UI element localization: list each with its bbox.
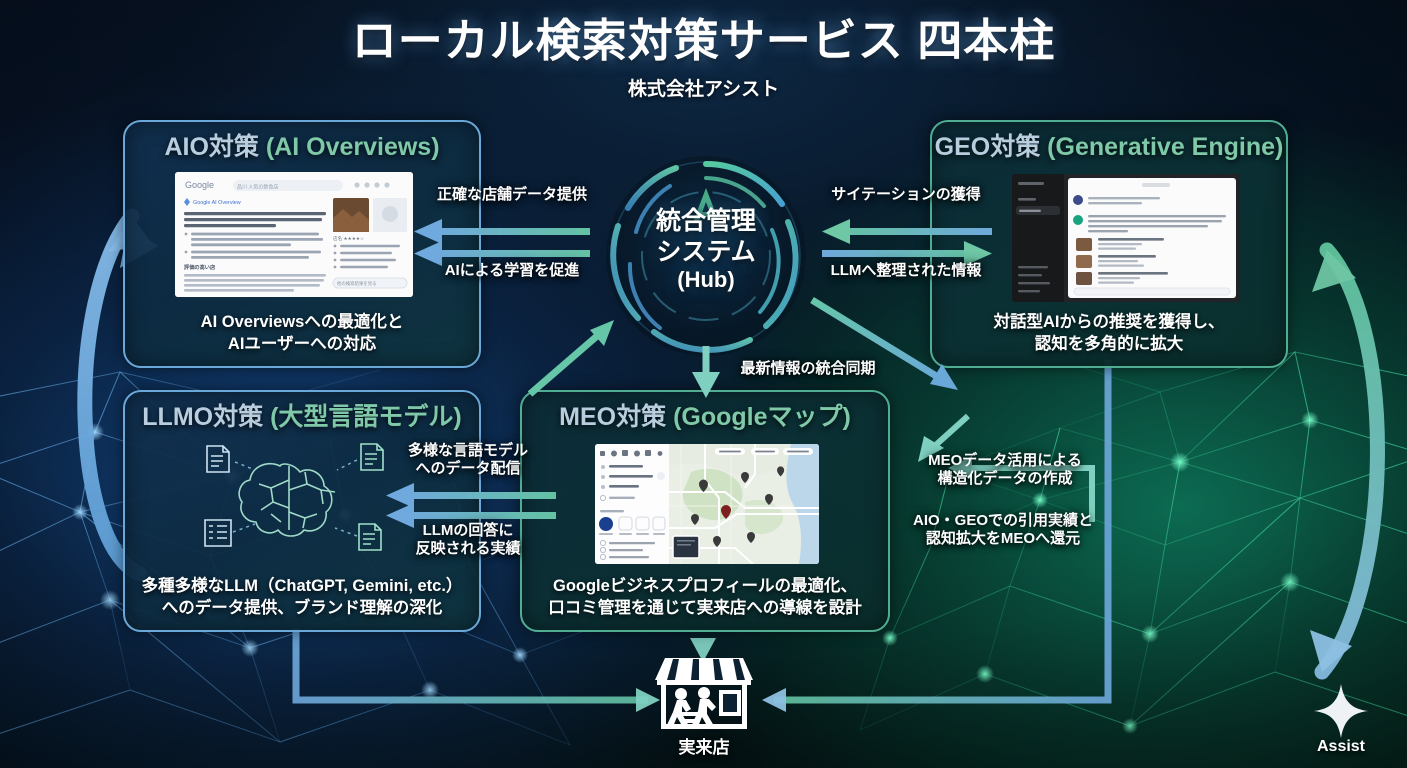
flow-label-right-bottom: AIO・GEOでの引用実績と 認知拡大をMEOへ還元 [898, 512, 1108, 549]
flow-label-right-top: MEOデータ活用による 構造化データの作成 [910, 452, 1100, 489]
brand-logo: Assist [1297, 682, 1385, 756]
store-node: 実来店 [645, 650, 763, 758]
arrow-meo-sync [692, 346, 720, 398]
brand-name: Assist [1297, 738, 1385, 756]
company-name: 株式会社アシスト [0, 74, 1407, 101]
arrow-aio-top [414, 219, 590, 244]
flow-label-geo-top: サイテーションの獲得 [816, 186, 996, 204]
store-label: 実来店 [645, 733, 763, 758]
flow-label-meo-sync: 最新情報の統合同期 [718, 360, 898, 378]
storefront-with-customers-icon [645, 650, 763, 732]
page-title: ローカル検索対策サービス 四本柱 [0, 14, 1407, 67]
header: ローカル検索対策サービス 四本柱 株式会社アシスト [0, 14, 1407, 101]
infographic-canvas: ローカル検索対策サービス 四本柱 株式会社アシスト [0, 0, 1407, 768]
flow-label-llmo-top: 多様な言語モデル へのデータ配信 [388, 442, 548, 479]
flow-label-aio-bottom: AIによる学習を促進 [422, 262, 602, 280]
flow-label-geo-bottom: LLMへ整理された情報 [812, 262, 1000, 280]
flow-label-llmo-bottom: LLMの回答に 反映される実績 [388, 522, 548, 559]
flow-label-aio-top: 正確な店舗データ提供 [422, 186, 602, 204]
sparkle-star-icon [1310, 682, 1372, 740]
arrow-llmo-to-hub [530, 320, 614, 394]
arrow-geo-top [822, 219, 992, 244]
